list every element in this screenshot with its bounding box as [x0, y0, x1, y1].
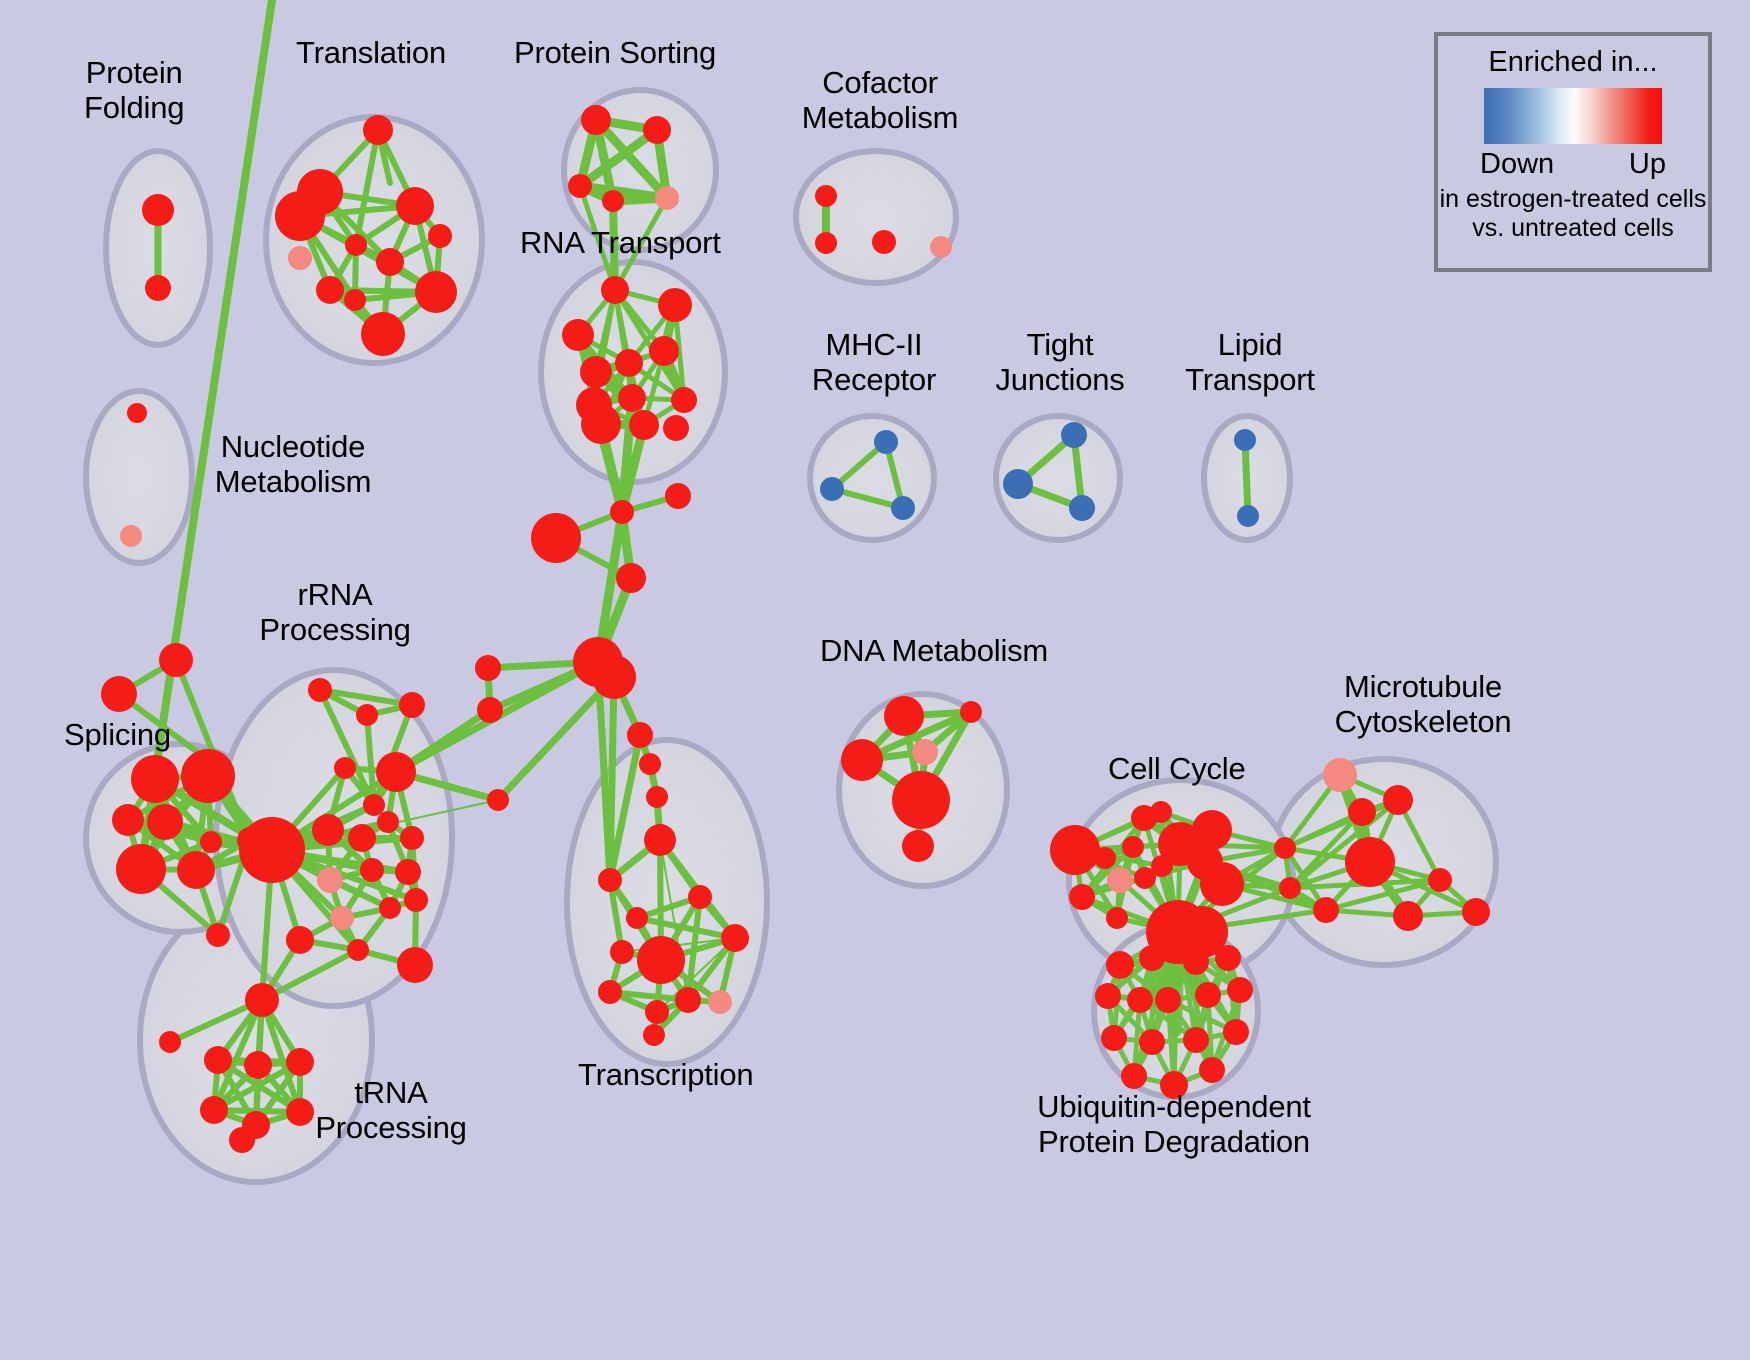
node — [960, 701, 982, 723]
node — [1094, 847, 1116, 869]
node — [902, 830, 934, 862]
node — [142, 194, 174, 226]
node — [363, 794, 385, 816]
node — [930, 236, 952, 258]
node — [400, 826, 424, 850]
node — [598, 980, 622, 1004]
node — [815, 185, 837, 207]
cluster-label-microtubule-cytoskeleton: Microtubule Cytoskeleton — [1312, 670, 1534, 739]
cluster-label-lipid-transport: Lipid Transport — [1180, 328, 1320, 397]
node — [688, 885, 712, 909]
node — [1139, 1029, 1165, 1055]
node — [395, 859, 421, 885]
node — [361, 312, 405, 356]
node — [1122, 836, 1144, 858]
node — [1237, 505, 1259, 527]
node — [363, 115, 393, 145]
node — [643, 1024, 665, 1046]
node — [1195, 982, 1221, 1008]
node — [581, 105, 611, 135]
node — [892, 771, 950, 829]
node — [1215, 945, 1241, 971]
node — [1200, 862, 1244, 906]
node — [629, 410, 659, 440]
node — [1069, 495, 1095, 521]
node — [721, 924, 749, 952]
node — [884, 696, 924, 736]
node — [1003, 469, 1033, 499]
node — [841, 739, 883, 781]
node — [244, 1051, 272, 1079]
node — [101, 676, 137, 712]
legend-low-label: Down — [1480, 148, 1554, 181]
cluster-label-protein-folding: Protein Folding — [84, 56, 184, 125]
node — [286, 926, 314, 954]
node — [1428, 868, 1452, 892]
node — [1095, 983, 1121, 1009]
node — [159, 1031, 181, 1053]
node — [663, 415, 689, 441]
node — [645, 1000, 669, 1024]
node — [655, 186, 679, 210]
node — [147, 804, 183, 840]
node — [1345, 837, 1395, 887]
cluster-label-cofactor-metabolism: Cofactor Metabolism — [800, 66, 960, 135]
node — [360, 858, 384, 882]
node — [376, 752, 416, 792]
node — [475, 655, 501, 681]
cluster-label-nucleotide-metabolism: Nucleotide Metabolism — [204, 430, 382, 499]
node — [658, 288, 692, 322]
node — [112, 804, 144, 836]
cluster-label-splicing: Splicing — [64, 718, 171, 753]
node — [1069, 884, 1095, 910]
node — [376, 248, 404, 276]
node — [396, 187, 434, 225]
cluster-label-rna-transport: RNA Transport — [520, 226, 721, 261]
node — [1121, 1063, 1147, 1089]
node — [815, 232, 837, 254]
node — [275, 191, 325, 241]
node — [1234, 429, 1256, 451]
node — [377, 811, 399, 833]
node — [616, 563, 646, 593]
legend-color-gradient-bar — [1484, 88, 1662, 144]
node — [399, 692, 425, 718]
legend-high-label: Up — [1629, 148, 1666, 181]
node — [592, 655, 636, 699]
node — [286, 1048, 314, 1076]
node — [1107, 867, 1133, 893]
node — [1127, 987, 1153, 1013]
node — [312, 814, 344, 846]
node — [610, 500, 634, 524]
node — [644, 824, 676, 856]
node — [1383, 785, 1413, 815]
node — [1150, 801, 1172, 823]
node — [1139, 945, 1165, 971]
node — [1183, 1027, 1209, 1053]
node — [1274, 837, 1296, 859]
node — [239, 817, 305, 883]
node — [1223, 1019, 1249, 1045]
node — [562, 319, 594, 351]
cluster-label-mhc-ii-receptor: MHC-II Receptor — [806, 328, 942, 397]
cluster-label-cell-cycle: Cell Cycle — [1108, 752, 1246, 787]
cluster-hull-cofactor-metabolism — [796, 151, 956, 283]
node — [181, 749, 235, 803]
node — [643, 116, 671, 144]
node — [1199, 1057, 1225, 1083]
node — [487, 789, 509, 811]
node — [206, 923, 230, 947]
node — [200, 1096, 228, 1124]
node — [820, 477, 844, 501]
node — [639, 753, 661, 775]
node — [131, 755, 179, 803]
node — [1323, 758, 1357, 792]
cluster-label-trna-processing: tRNA Processing — [306, 1076, 476, 1145]
node — [568, 174, 592, 198]
node — [874, 430, 898, 454]
node — [627, 722, 653, 748]
node — [580, 356, 612, 388]
node — [1279, 877, 1301, 899]
cluster-label-transcription: Transcription — [578, 1058, 753, 1093]
node — [204, 1046, 232, 1074]
node — [330, 906, 354, 930]
node — [120, 525, 142, 547]
node — [598, 868, 622, 892]
legend-box: Enriched in... Down Up in estrogen-treat… — [1434, 32, 1712, 272]
node — [334, 757, 356, 779]
node — [1183, 949, 1209, 975]
node — [671, 387, 697, 413]
node — [618, 384, 646, 412]
node — [356, 704, 378, 726]
node — [912, 739, 938, 765]
node — [665, 483, 691, 509]
node — [308, 678, 332, 702]
node — [177, 851, 215, 889]
node — [116, 844, 166, 894]
node — [610, 940, 634, 964]
node — [344, 289, 366, 311]
legend-subtitle-line2: vs. untreated cells — [1440, 214, 1707, 243]
node — [1106, 907, 1128, 929]
network-figure: Protein Folding Translation Protein Sort… — [0, 0, 1750, 1360]
node — [646, 786, 668, 808]
cluster-label-translation: Translation — [296, 36, 446, 71]
node — [428, 224, 452, 248]
cluster-label-ubiquitin-degradation: Ubiquitin-dependent Protein Degradation — [996, 1090, 1352, 1159]
node — [145, 275, 171, 301]
cluster-label-protein-sorting: Protein Sorting — [514, 36, 716, 71]
node — [708, 990, 732, 1014]
node — [159, 643, 193, 677]
node — [288, 246, 312, 270]
node — [317, 867, 343, 893]
node — [1462, 898, 1490, 926]
node — [615, 349, 643, 377]
cluster-label-rrna-processing: rRNA Processing — [250, 578, 420, 647]
node — [872, 230, 896, 254]
cluster-label-dna-metabolism: DNA Metabolism — [820, 634, 1048, 669]
node — [1155, 987, 1181, 1013]
node — [1061, 422, 1087, 448]
node — [1348, 798, 1376, 826]
node — [675, 987, 701, 1013]
node — [245, 983, 279, 1017]
node — [1227, 977, 1253, 1003]
node — [229, 1127, 255, 1153]
node — [581, 404, 621, 444]
node — [345, 234, 367, 256]
node — [1050, 825, 1100, 875]
node — [415, 271, 457, 313]
node — [626, 907, 648, 929]
node — [348, 824, 376, 852]
node — [397, 947, 433, 983]
node — [316, 276, 344, 304]
node — [1106, 951, 1134, 979]
node — [1151, 855, 1173, 877]
node — [637, 936, 685, 984]
node — [602, 190, 624, 212]
node — [127, 403, 147, 423]
node — [477, 697, 503, 723]
node — [1313, 897, 1339, 923]
node — [200, 831, 222, 853]
node — [891, 496, 915, 520]
legend-title: Enriched in... — [1488, 46, 1657, 79]
legend-subtitle-line1: in estrogen-treated cells — [1440, 185, 1707, 214]
cluster-label-tight-junctions: Tight Junctions — [990, 328, 1130, 397]
node — [379, 897, 401, 919]
node — [649, 336, 679, 366]
node — [1192, 810, 1232, 850]
node — [404, 888, 428, 912]
node — [1101, 1025, 1127, 1051]
node — [531, 513, 581, 563]
node — [1393, 901, 1423, 931]
node — [601, 276, 629, 304]
node — [347, 939, 369, 961]
